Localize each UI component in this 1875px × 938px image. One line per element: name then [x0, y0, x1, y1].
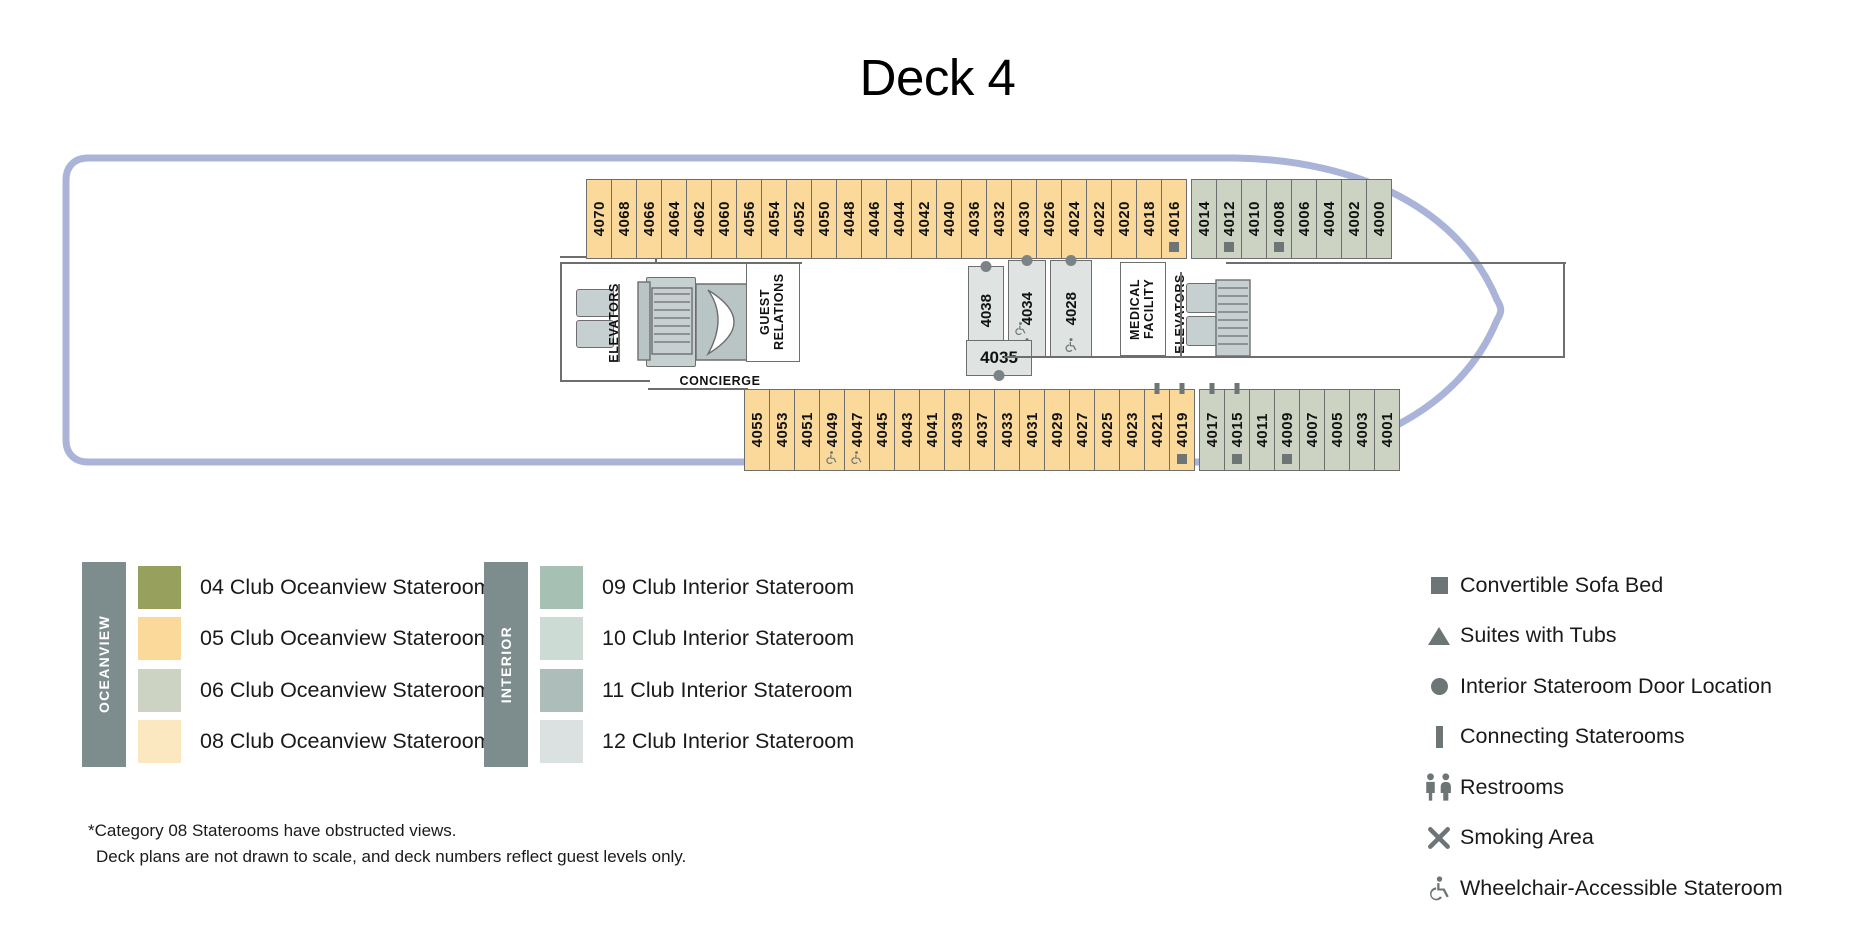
- symbol-legend-row: Restrooms: [1418, 762, 1783, 813]
- deck-boundary-fwd: [1226, 262, 1566, 264]
- stateroom-number: 4022: [1092, 201, 1107, 236]
- stateroom-4052[interactable]: 4052: [786, 179, 812, 259]
- stateroom-4010[interactable]: 4010: [1241, 179, 1267, 259]
- stateroom-4036[interactable]: 4036: [961, 179, 987, 259]
- wheelchair-icon: [1418, 875, 1460, 902]
- symbol-legend-label: Suites with Tubs: [1460, 623, 1617, 648]
- stateroom-number: 4002: [1347, 201, 1362, 236]
- legend-item-06: 06 Club Oceanview Stateroom: [138, 665, 506, 716]
- footnote-line-2: Deck plans are not drawn to scale, and d…: [88, 844, 686, 870]
- stateroom-4044[interactable]: 4044: [886, 179, 912, 259]
- stateroom-number: 4036: [967, 201, 982, 236]
- stateroom-4030[interactable]: 4030: [1011, 179, 1037, 259]
- restroom-icon: [1418, 772, 1460, 802]
- stateroom-number: 4068: [617, 201, 632, 236]
- stateroom-number: 4011: [1255, 413, 1270, 448]
- legend-label-10: 10 Club Interior Stateroom: [602, 626, 854, 651]
- stateroom-4015[interactable]: 4015: [1224, 389, 1250, 471]
- interior-category-bar: INTERIOR: [484, 562, 528, 767]
- stateroom-4005[interactable]: 4005: [1324, 389, 1350, 471]
- stateroom-number: 4054: [767, 201, 782, 236]
- stateroom-4017[interactable]: 4017: [1199, 389, 1225, 471]
- stateroom-4048[interactable]: 4048: [836, 179, 862, 259]
- corridor-boundary: [1563, 262, 1565, 358]
- stateroom-4023[interactable]: 4023: [1119, 389, 1145, 471]
- stateroom-number: 4062: [692, 201, 707, 236]
- stateroom-4031[interactable]: 4031: [1019, 389, 1045, 471]
- stateroom-4004[interactable]: 4004: [1316, 179, 1342, 259]
- stateroom-number: 4020: [1117, 201, 1132, 236]
- stateroom-4040[interactable]: 4040: [936, 179, 962, 259]
- stateroom-number: 4017: [1205, 412, 1220, 447]
- legend-label-09: 09 Club Interior Stateroom: [602, 575, 854, 600]
- stateroom-4039[interactable]: 4039: [944, 389, 970, 471]
- stateroom-4066[interactable]: 4066: [636, 179, 662, 259]
- legend-swatch-10: [540, 617, 583, 660]
- stateroom-number: 4041: [925, 412, 940, 447]
- stateroom-number: 4025: [1100, 412, 1115, 447]
- stateroom-number: 4056: [742, 201, 757, 236]
- stateroom-number: 4039: [950, 412, 965, 447]
- stateroom-number: 4060: [717, 201, 732, 236]
- stateroom-4037[interactable]: 4037: [969, 389, 995, 471]
- stateroom-4014[interactable]: 4014: [1191, 179, 1217, 259]
- stateroom-number: 4007: [1305, 412, 1320, 447]
- stateroom-4045[interactable]: 4045: [869, 389, 895, 471]
- wheelchair-icon: [824, 450, 840, 466]
- stateroom-number: 4055: [750, 412, 765, 447]
- stateroom-number: 4031: [1025, 412, 1040, 447]
- stateroom-number: 4029: [1050, 412, 1065, 447]
- connecting-staterooms-icon: [1235, 383, 1240, 394]
- stateroom-4011[interactable]: 4011: [1249, 389, 1275, 471]
- symbol-legend-row: Wheelchair-Accessible Stateroom: [1418, 863, 1783, 914]
- stateroom-4018[interactable]: 4018: [1136, 179, 1162, 259]
- stateroom-4026[interactable]: 4026: [1036, 179, 1062, 259]
- stateroom-number: 4012: [1222, 201, 1237, 236]
- stateroom-4000[interactable]: 4000: [1366, 179, 1392, 259]
- stateroom-number: 4021: [1150, 412, 1165, 447]
- legend-item-05: 05 Club Oceanview Stateroom: [138, 613, 506, 664]
- circle-icon: [1418, 678, 1460, 695]
- triangle-icon: [1418, 627, 1460, 645]
- stateroom-4053[interactable]: 4053: [769, 389, 795, 471]
- corridor-wall: [560, 262, 562, 382]
- stateroom-number: 4032: [992, 201, 1007, 236]
- square-icon: [1418, 577, 1460, 594]
- legend-swatch-04: [138, 566, 181, 609]
- stateroom-number: 4026: [1042, 201, 1057, 236]
- legend-swatch-11: [540, 669, 583, 712]
- stateroom-number: 4046: [867, 201, 882, 236]
- convertible-sofa-bed-icon: [1177, 454, 1187, 464]
- stateroom-number: 4049: [825, 412, 840, 447]
- stateroom-number: 4027: [1075, 412, 1090, 447]
- symbol-legend-label: Restrooms: [1460, 775, 1564, 800]
- stateroom-number: 4005: [1330, 412, 1345, 447]
- elevator-shaft-wall-fwd: [1180, 356, 1226, 358]
- stateroom-4024[interactable]: 4024: [1061, 179, 1087, 259]
- stateroom-4006[interactable]: 4006: [1291, 179, 1317, 259]
- medical-facility: MEDICAL FACILITY: [1120, 262, 1166, 356]
- stateroom-4001[interactable]: 4001: [1374, 389, 1400, 471]
- stateroom-4054[interactable]: 4054: [761, 179, 787, 259]
- concierge-wall: [648, 388, 748, 390]
- stateroom-number: 4043: [900, 412, 915, 447]
- symbol-legend-row: Smoking Area: [1418, 813, 1783, 864]
- stateroom-number: 4010: [1247, 201, 1262, 236]
- legend-label-12: 12 Club Interior Stateroom: [602, 729, 854, 754]
- stateroom-number: 4023: [1125, 412, 1140, 447]
- elevator-shaft-wall-fwd: [1180, 272, 1182, 356]
- stateroom-4019[interactable]: 4019: [1169, 389, 1195, 471]
- vertical-bar-icon: [1418, 726, 1460, 748]
- guest-relations-desk: GUEST RELATIONS: [746, 262, 800, 362]
- stateroom-number: 4018: [1142, 201, 1157, 236]
- legend-item-12: 12 Club Interior Stateroom: [540, 716, 854, 767]
- stateroom-number: 4015: [1230, 412, 1245, 447]
- stateroom-number: 4004: [1322, 201, 1337, 236]
- wheelchair-icon: [1013, 321, 1029, 337]
- stateroom-4008[interactable]: 4008: [1266, 179, 1292, 259]
- stateroom-4025[interactable]: 4025: [1094, 389, 1120, 471]
- stateroom-number: 4024: [1067, 201, 1082, 236]
- stateroom-4064[interactable]: 4064: [661, 179, 687, 259]
- stateroom-4029[interactable]: 4029: [1044, 389, 1070, 471]
- interior-stateroom-door-icon: [994, 370, 1005, 381]
- upper-stateroom-row: 4070406840664064406240604056405440524050…: [586, 179, 1391, 259]
- interior-cabin-4028[interactable]: 4028: [1050, 260, 1092, 358]
- symbol-legend-label: Convertible Sofa Bed: [1460, 573, 1663, 598]
- stateroom-4070[interactable]: 4070: [586, 179, 612, 259]
- stateroom-number: 4037: [975, 412, 990, 447]
- stateroom-4016[interactable]: 4016: [1161, 179, 1187, 259]
- corridor-boundary: [1004, 356, 1564, 358]
- stateroom-4047[interactable]: 4047: [844, 389, 870, 471]
- legend-symbols: Convertible Sofa BedSuites with TubsInte…: [1418, 560, 1783, 914]
- stateroom-4050[interactable]: 4050: [811, 179, 837, 259]
- stateroom-number: 4066: [642, 201, 657, 236]
- legend-item-09: 09 Club Interior Stateroom: [540, 562, 854, 613]
- symbol-legend-label: Wheelchair-Accessible Stateroom: [1460, 876, 1783, 901]
- stateroom-4021[interactable]: 4021: [1144, 389, 1170, 471]
- symbol-legend-row: Interior Stateroom Door Location: [1418, 661, 1783, 712]
- stateroom-4046[interactable]: 4046: [861, 179, 887, 259]
- convertible-sofa-bed-icon: [1169, 242, 1179, 252]
- legend-swatch-05: [138, 617, 181, 660]
- stateroom-4032[interactable]: 4032: [986, 179, 1012, 259]
- stateroom-number: 4009: [1280, 412, 1295, 447]
- stateroom-number: 4044: [892, 201, 907, 236]
- stateroom-4051[interactable]: 4051: [794, 389, 820, 471]
- stateroom-4068[interactable]: 4068: [611, 179, 637, 259]
- stateroom-number: 4019: [1175, 412, 1190, 447]
- convertible-sofa-bed-icon: [1282, 454, 1292, 464]
- stateroom-4007[interactable]: 4007: [1299, 389, 1325, 471]
- stateroom-number: 4064: [667, 201, 682, 236]
- stateroom-4042[interactable]: 4042: [911, 179, 937, 259]
- stateroom-number: 4016: [1167, 201, 1182, 236]
- connecting-staterooms-icon: [1180, 383, 1185, 394]
- interior-cabin-4035[interactable]: 4035: [966, 340, 1032, 376]
- stateroom-number: 4045: [875, 412, 890, 447]
- legend-swatch-06: [138, 669, 181, 712]
- legend-swatch-12: [540, 720, 583, 763]
- wheelchair-icon: [849, 450, 865, 466]
- stateroom-number: 4003: [1355, 412, 1370, 447]
- elevators-label-aft: ELEVATORS: [600, 284, 630, 362]
- stateroom-number: 4000: [1372, 201, 1387, 236]
- legend-interior: INTERIOR 09 Club Interior Stateroom10 Cl…: [484, 562, 854, 767]
- connecting-staterooms-icon: [1210, 383, 1215, 394]
- stateroom-number: 4070: [592, 201, 607, 236]
- stateroom-4055[interactable]: 4055: [744, 389, 770, 471]
- legend-label-08: 08 Club Oceanview Stateroom *: [200, 729, 506, 754]
- legend-item-04: 04 Club Oceanview Stateroom: [138, 562, 506, 613]
- legend-swatch-09: [540, 566, 583, 609]
- stateroom-4012[interactable]: 4012: [1216, 179, 1242, 259]
- stateroom-number: 4001: [1380, 412, 1395, 447]
- symbol-legend-row: Convertible Sofa Bed: [1418, 560, 1783, 611]
- footnote: *Category 08 Staterooms have obstructed …: [88, 818, 686, 871]
- stairwell-fwd: [1214, 272, 1274, 368]
- stateroom-4009[interactable]: 4009: [1274, 389, 1300, 471]
- stateroom-4033[interactable]: 4033: [994, 389, 1020, 471]
- footnote-line-1: *Category 08 Staterooms have obstructed …: [88, 818, 686, 844]
- corridor-wall: [560, 380, 650, 382]
- stateroom-number: 4014: [1197, 201, 1212, 236]
- legend-item-08: 08 Club Oceanview Stateroom *: [138, 716, 506, 767]
- wheelchair-icon: [1063, 337, 1079, 353]
- stateroom-number: 4033: [1000, 412, 1015, 447]
- interior-stateroom-door-icon: [981, 261, 992, 272]
- stateroom-4022[interactable]: 4022: [1086, 179, 1112, 259]
- stateroom-4002[interactable]: 4002: [1341, 179, 1367, 259]
- page-title: Deck 4: [0, 48, 1875, 107]
- convertible-sofa-bed-icon: [1274, 242, 1284, 252]
- convertible-sofa-bed-icon: [1232, 454, 1242, 464]
- connecting-staterooms-icon: [1155, 383, 1160, 394]
- stateroom-4041[interactable]: 4041: [919, 389, 945, 471]
- oceanview-category-bar: OCEANVIEW: [82, 562, 126, 767]
- stateroom-number: 4030: [1017, 201, 1032, 236]
- legend-label-11: 11 Club Interior Stateroom: [602, 678, 853, 703]
- legend-label-04: 04 Club Oceanview Stateroom: [200, 575, 492, 600]
- symbol-legend-label: Smoking Area: [1460, 825, 1594, 850]
- guest-relations-wall: [746, 262, 802, 264]
- stateroom-4056[interactable]: 4056: [736, 179, 762, 259]
- legend-item-10: 10 Club Interior Stateroom: [540, 613, 854, 664]
- interior-stateroom-door-icon: [1022, 255, 1033, 266]
- legend-swatch-08: [138, 720, 181, 763]
- stateroom-number: 4051: [800, 412, 815, 447]
- stateroom-4049[interactable]: 4049: [819, 389, 845, 471]
- stateroom-number: 4042: [917, 201, 932, 236]
- stateroom-4027[interactable]: 4027: [1069, 389, 1095, 471]
- lower-stateroom-row: 4055405340514049404740454043404140394037…: [744, 389, 1399, 471]
- stateroom-4020[interactable]: 4020: [1111, 179, 1137, 259]
- stateroom-4060[interactable]: 4060: [711, 179, 737, 259]
- symbol-legend-row: Connecting Staterooms: [1418, 712, 1783, 763]
- stateroom-number: 4008: [1272, 201, 1287, 236]
- stateroom-4062[interactable]: 4062: [686, 179, 712, 259]
- stateroom-number: 4053: [775, 412, 790, 447]
- stateroom-number: 4040: [942, 201, 957, 236]
- stateroom-4043[interactable]: 4043: [894, 389, 920, 471]
- convertible-sofa-bed-icon: [1224, 242, 1234, 252]
- stateroom-number: 4048: [842, 201, 857, 236]
- legend-oceanview: OCEANVIEW 04 Club Oceanview Stateroom05 …: [82, 562, 506, 767]
- legend-item-11: 11 Club Interior Stateroom: [540, 665, 854, 716]
- stateroom-4003[interactable]: 4003: [1349, 389, 1375, 471]
- symbol-legend-row: Suites with Tubs: [1418, 611, 1783, 662]
- stateroom-number: 4006: [1297, 201, 1312, 236]
- stateroom-number: 4050: [817, 201, 832, 236]
- x-icon: [1418, 825, 1460, 851]
- symbol-legend-label: Connecting Staterooms: [1460, 724, 1685, 749]
- legend-label-05: 05 Club Oceanview Stateroom: [200, 626, 492, 651]
- interior-stateroom-door-icon: [1066, 255, 1077, 266]
- stateroom-number: 4052: [792, 201, 807, 236]
- stateroom-number: 4047: [850, 412, 865, 447]
- legend-label-06: 06 Club Oceanview Stateroom: [200, 678, 492, 703]
- symbol-legend-label: Interior Stateroom Door Location: [1460, 674, 1772, 699]
